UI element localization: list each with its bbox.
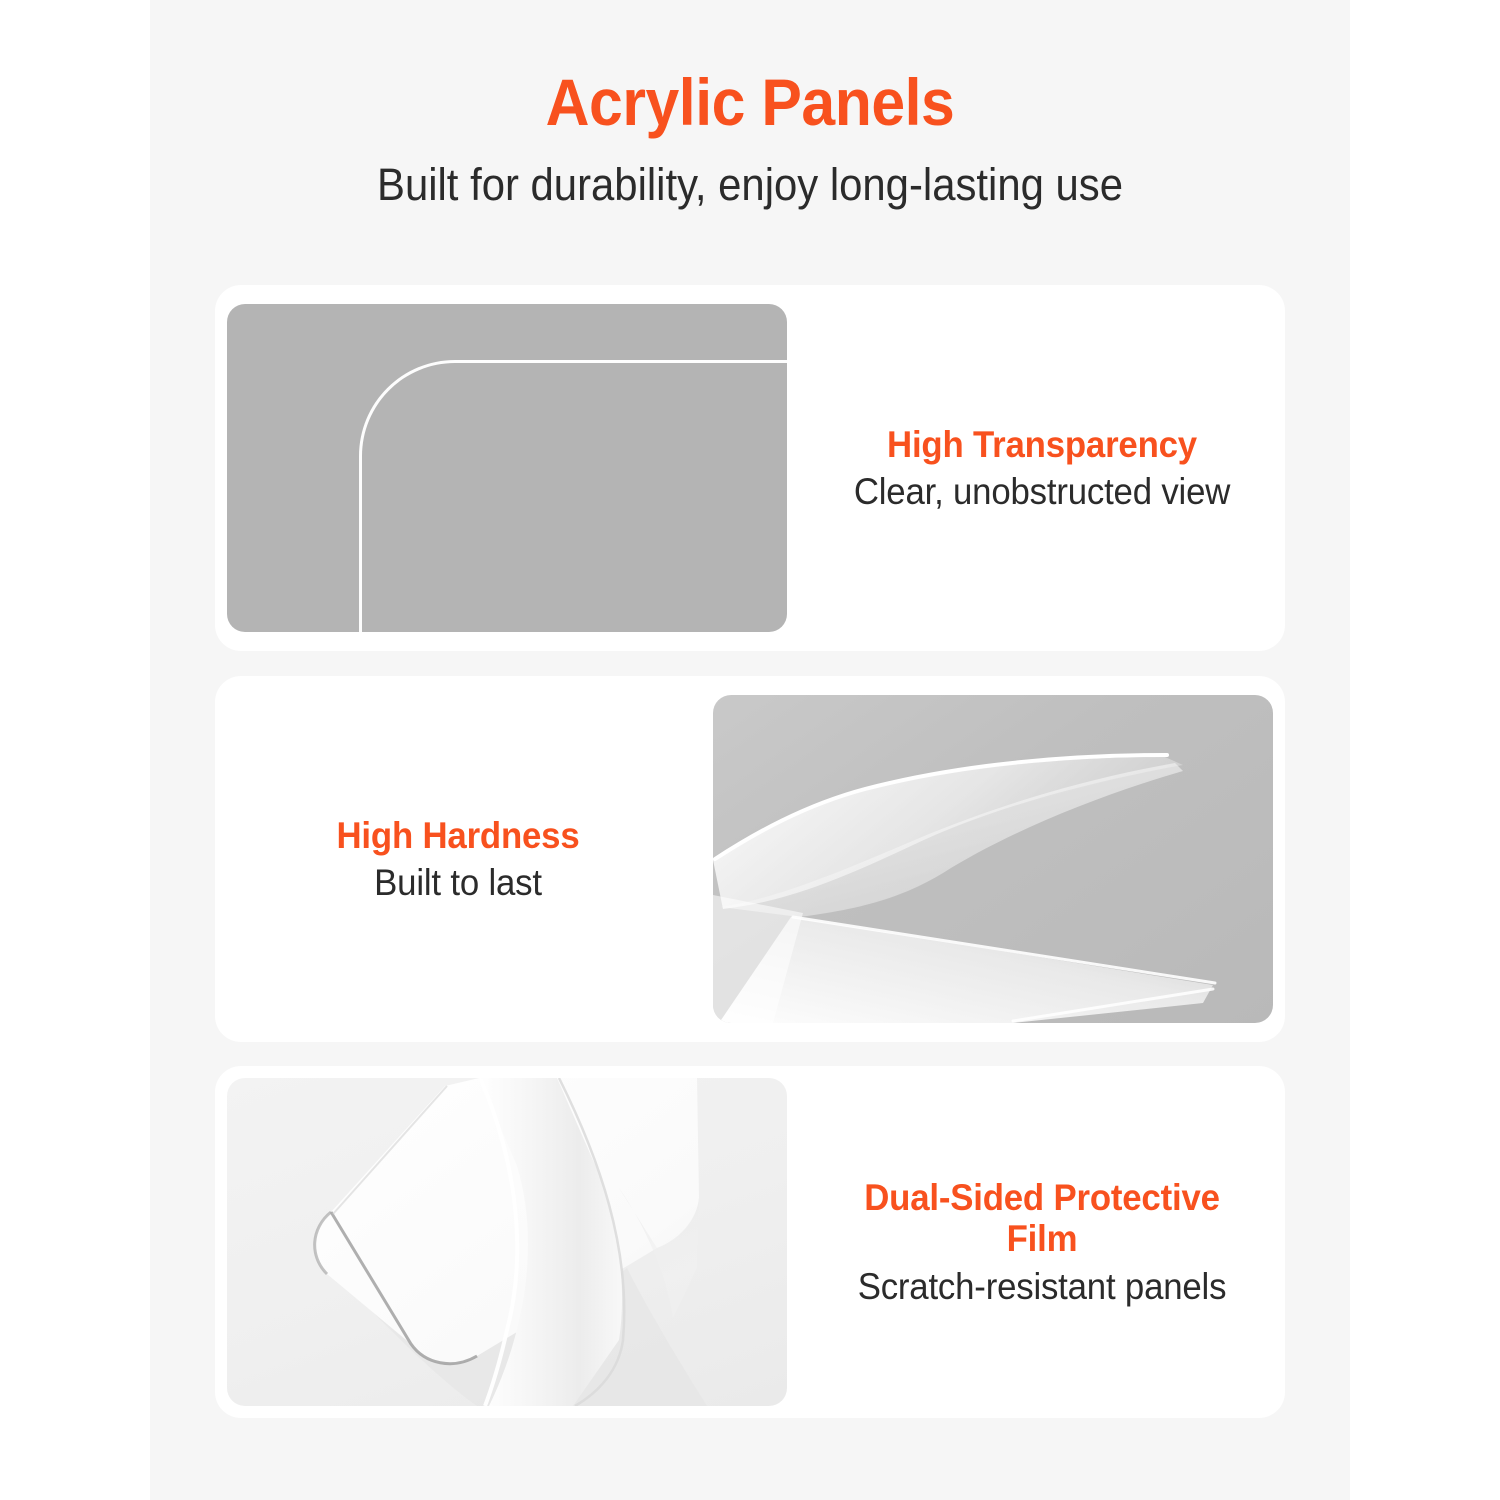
panel-edge-line-icon: [359, 360, 787, 632]
feature-subtitle: Clear, unobstructed view: [838, 465, 1246, 512]
peel-illustration-icon: [227, 1078, 787, 1406]
page-canvas: Acrylic Panels Built for durability, enj…: [150, 0, 1350, 1500]
feature-card-high-hardness: High Hardness Built to last: [215, 676, 1285, 1042]
feature-copy: High Transparency Clear, unobstructed vi…: [799, 424, 1285, 513]
image-peeling-film: [713, 695, 1273, 1023]
image-panel-film-peel: [227, 1078, 787, 1406]
feature-copy: Dual-Sided Protective Film Scratch-resis…: [799, 1177, 1285, 1307]
feature-subtitle: Scratch-resistant panels: [838, 1260, 1246, 1307]
feature-subtitle: Built to last: [254, 856, 662, 903]
page-title: Acrylic Panels: [198, 0, 1302, 137]
feature-card-dual-sided-protective-film: Dual-Sided Protective Film Scratch-resis…: [215, 1066, 1285, 1418]
feature-copy: High Hardness Built to last: [215, 815, 701, 904]
feature-title: High Hardness: [254, 815, 662, 856]
feature-card-high-transparency: High Transparency Clear, unobstructed vi…: [215, 285, 1285, 651]
image-gray-acrylic-panel: [227, 304, 787, 632]
feature-title: High Transparency: [838, 424, 1246, 465]
film-illustration-icon: [713, 695, 1273, 1023]
feature-title: Dual-Sided Protective Film: [838, 1177, 1246, 1260]
page-subtitle: Built for durability, enjoy long-lasting…: [192, 137, 1308, 208]
header: Acrylic Panels Built for durability, enj…: [150, 0, 1350, 209]
